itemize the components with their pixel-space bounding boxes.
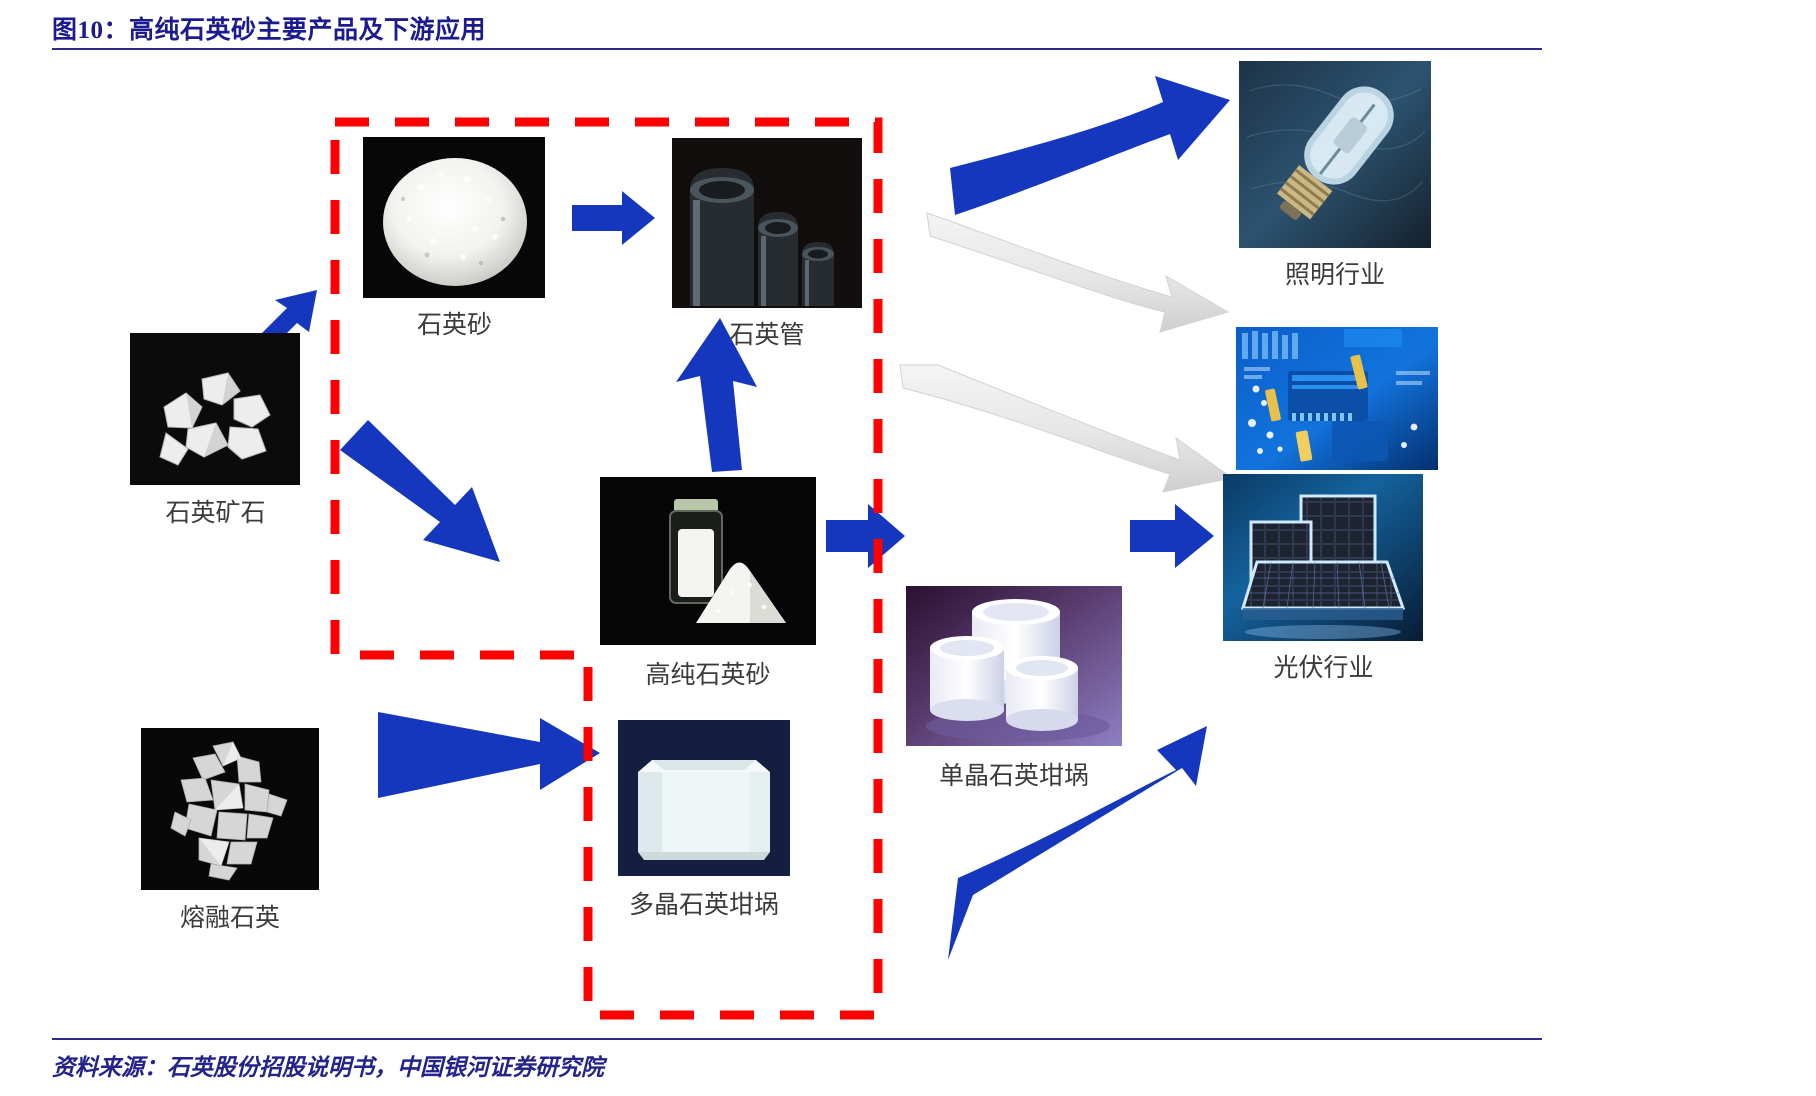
- arrow-monocrucible-to-semiconductor: [900, 365, 1232, 492]
- figure-source: 资料来源：石英股份招股说明书，中国银河证券研究院: [52, 1048, 604, 1082]
- node-label-quartz-ore: 石英矿石: [128, 493, 303, 529]
- node-label-high-purity-quartz-sand: 高纯石英砂: [597, 655, 819, 691]
- arrow-monocrucible-to-pv: [1130, 504, 1214, 568]
- quartz-ore-photo: [130, 333, 300, 485]
- process-flow-diagram: 石英矿石: [0, 50, 1816, 1035]
- mono-quartz-crucible-photo: [906, 586, 1122, 746]
- node-label-fused-quartz: 熔融石英: [138, 898, 322, 934]
- arrow-hpsand-to-monocrucible: [826, 504, 905, 568]
- node-label-quartz-sand: 石英砂: [362, 305, 547, 341]
- quartz-tube-photo: [672, 138, 862, 308]
- node-label-lighting-industry: 照明行业: [1236, 255, 1434, 291]
- arrow-sand-to-tube: [572, 191, 655, 245]
- solar-panel-photo: [1223, 474, 1423, 641]
- circuit-board-photo: [1236, 327, 1438, 470]
- arrow-fusedquartz-to-polycrucible: [378, 712, 600, 798]
- node-label-mono-quartz-crucible: 单晶石英坩埚: [903, 756, 1125, 792]
- poly-quartz-crucible-photo: [618, 720, 790, 876]
- fused-quartz-photo: [141, 728, 319, 890]
- node-label-quartz-tube: 石英管: [672, 315, 862, 351]
- quartz-sand-photo: [363, 137, 545, 298]
- arrow-tube-to-lighting: [950, 76, 1230, 215]
- node-label-poly-quartz-crucible: 多晶石英坩埚: [590, 885, 818, 921]
- page-title: 图10：高纯石英砂主要产品及下游应用: [52, 10, 486, 46]
- high-purity-quartz-sand-photo: [600, 477, 816, 645]
- metal-halide-lamp-photo: [1239, 61, 1431, 248]
- arrow-tube-to-semiconductor: [927, 213, 1228, 332]
- arrow-ore-to-hpsand: [340, 420, 500, 562]
- node-label-pv-industry: 光伏行业: [1221, 648, 1426, 684]
- footer-divider: [52, 1038, 1542, 1040]
